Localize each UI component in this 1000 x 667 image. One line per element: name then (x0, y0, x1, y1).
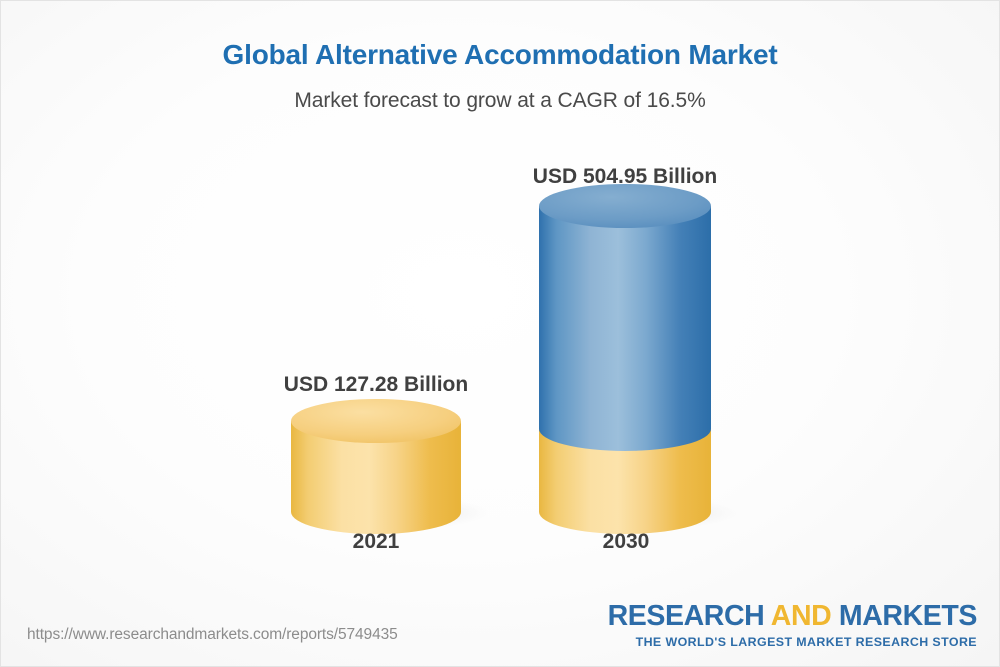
cylinder-bar-chart: USD 127.28 Billion USD 504.95 Billion 20… (1, 1, 1000, 667)
brand-tagline: THE WORLD'S LARGEST MARKET RESEARCH STOR… (608, 636, 977, 648)
chart-svg (1, 1, 1000, 667)
brand-logo: RESEARCH AND MARKETS THE WORLD'S LARGEST… (608, 602, 977, 648)
infographic-canvas: Global Alternative Accommodation Market … (0, 0, 1000, 667)
category-label-2030: 2030 (526, 530, 726, 554)
data-label-2030: USD 504.95 Billion (465, 165, 785, 189)
brand-name: RESEARCH AND MARKETS (608, 602, 977, 631)
cylinder-2021 (291, 399, 489, 534)
cylinder-2021-top-cap (291, 399, 461, 443)
brand-word-and: AND (764, 600, 839, 632)
source-url[interactable]: https://www.researchandmarkets.com/repor… (27, 626, 398, 644)
brand-word-research: RESEARCH (608, 600, 765, 632)
cylinder-2030 (539, 184, 739, 534)
brand-word-markets: MARKETS (839, 600, 977, 632)
cylinder-2030-top-cap (539, 184, 711, 228)
cylinder-2030-blue-segment (539, 206, 711, 451)
category-label-2021: 2021 (276, 530, 476, 554)
data-label-2021: USD 127.28 Billion (216, 373, 536, 397)
